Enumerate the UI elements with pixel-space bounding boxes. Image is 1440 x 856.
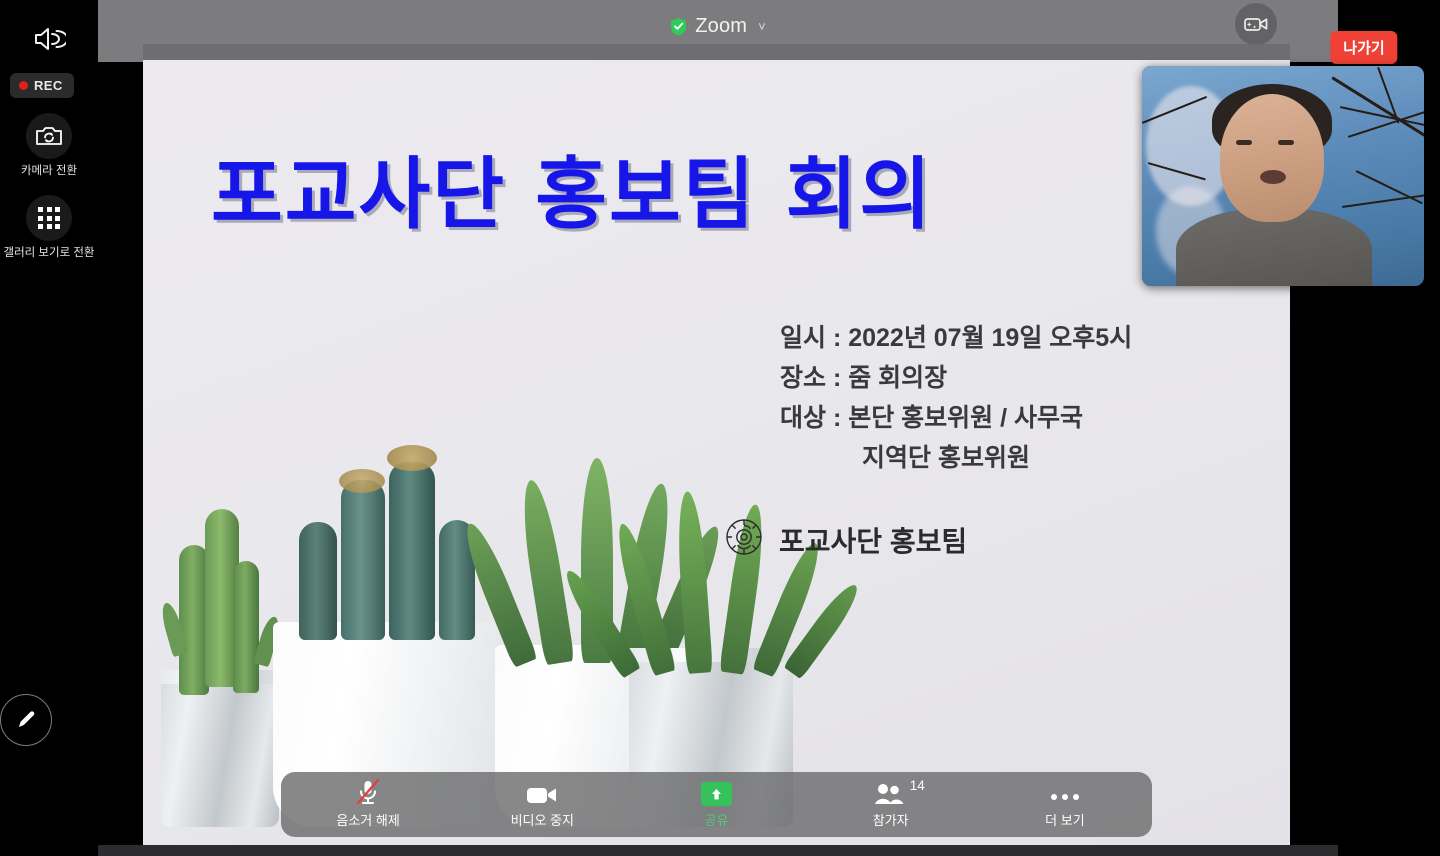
video-effects-button[interactable] xyxy=(1235,3,1277,45)
toolbar-button-share-label: 공유 xyxy=(705,810,729,829)
slide-title: 포교사단 홍보팀 회의 xyxy=(211,132,933,244)
left-control-sidebar: REC 카메라 전환 갤러리 보기로 전환 xyxy=(0,0,98,856)
lotus-emblem-icon xyxy=(725,518,763,561)
slide-org-name: 포교사단 홍보팀 xyxy=(779,520,967,560)
recording-badge[interactable]: REC xyxy=(10,73,74,98)
toolbar-button-share[interactable]: 공유 xyxy=(629,772,803,837)
participants-count: 14 xyxy=(910,778,925,793)
slide-info-line-datetime: 일시 : 2022년 07월 19일 오후5시 xyxy=(780,318,1132,358)
chevron-down-icon[interactable]: ˅ xyxy=(758,19,766,34)
speaker-volume-icon[interactable] xyxy=(0,24,98,54)
video-camera-icon xyxy=(525,780,559,806)
meeting-toolbar: 음소거 해제 비디오 중지 공유 xyxy=(281,772,1152,837)
recording-label: REC xyxy=(34,78,63,93)
slide-info-line-audience: 대상 : 본단 홍보위원 / 사무국 xyxy=(780,398,1132,438)
share-screen-icon xyxy=(701,780,732,806)
toolbar-button-stop-video-label: 비디오 중지 xyxy=(511,810,574,829)
slide-info-block: 일시 : 2022년 07월 19일 오후5시 장소 : 줌 회의장 대상 : … xyxy=(780,318,1132,478)
camera-switch-icon xyxy=(26,113,72,159)
grid-view-icon xyxy=(26,195,72,241)
speaker-face xyxy=(1220,94,1324,222)
bottom-edge-strip xyxy=(98,845,1338,856)
recording-dot-icon xyxy=(19,81,28,90)
toolbar-button-unmute[interactable]: 음소거 해제 xyxy=(281,772,455,837)
more-options-icon xyxy=(1051,780,1079,806)
shared-screen-region[interactable]: 포교사단 홍보팀 회의 일시 : 2022년 07월 19일 오후5시 장소 :… xyxy=(143,44,1290,845)
toolbar-button-more-label: 더 보기 xyxy=(1045,810,1085,829)
leave-meeting-button[interactable]: 나가기 xyxy=(1330,31,1397,64)
presentation-slide: 포교사단 홍보팀 회의 일시 : 2022년 07월 19일 오후5시 장소 :… xyxy=(143,60,1290,845)
sidebar-item-camera-switch-label: 카메라 전환 xyxy=(0,164,98,178)
sidebar-item-camera-switch[interactable]: 카메라 전환 xyxy=(0,113,98,178)
toolbar-button-unmute-label: 음소거 해제 xyxy=(336,810,399,829)
shield-check-icon xyxy=(670,17,687,36)
sidebar-item-gallery-view-label: 갤러리 보기로 전환 xyxy=(0,246,98,260)
slide-info-line-audience-2: 지역단 홍보위원 xyxy=(780,438,1132,478)
sidebar-item-gallery-view[interactable]: 갤러리 보기로 전환 xyxy=(0,195,98,260)
toolbar-button-stop-video[interactable]: 비디오 중지 xyxy=(455,772,629,837)
page-title: Zoom xyxy=(695,15,747,38)
speaker-video-thumbnail[interactable] xyxy=(1142,66,1424,286)
video-effects-icon xyxy=(1243,14,1269,34)
microphone-muted-icon xyxy=(353,780,383,806)
toolbar-button-participants[interactable]: 14 참가자 xyxy=(804,772,978,837)
slide-info-line-place: 장소 : 줌 회의장 xyxy=(780,358,1132,398)
zoom-meeting-screen: REC 카메라 전환 갤러리 보기로 전환 xyxy=(0,0,1440,856)
slide-org-row: 포교사단 홍보팀 xyxy=(725,518,967,561)
participants-icon: 14 xyxy=(874,780,908,806)
toolbar-button-more[interactable]: 더 보기 xyxy=(978,772,1152,837)
toolbar-button-participants-label: 참가자 xyxy=(873,810,909,829)
